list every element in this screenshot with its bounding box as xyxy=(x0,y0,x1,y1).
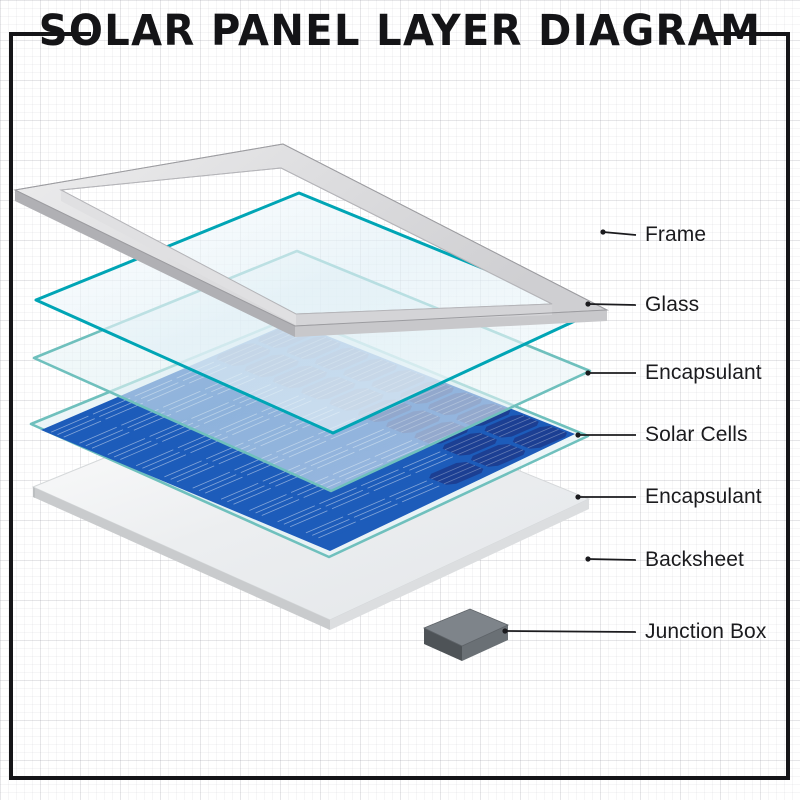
label-junction-box: Junction Box xyxy=(645,620,766,644)
label-solar-cells: Solar Cells xyxy=(645,423,748,447)
leader-line-junction-box xyxy=(505,631,636,632)
label-backsheet: Backsheet xyxy=(645,548,744,572)
leader-line-frame xyxy=(603,232,636,235)
junction-box xyxy=(424,609,508,661)
leader-line-glass xyxy=(588,304,636,305)
page-title: SOLAR PANEL LAYER DIAGRAM xyxy=(28,2,772,60)
label-glass: Glass xyxy=(645,293,699,317)
label-encapsulant2: Encapsulant xyxy=(645,485,762,509)
leader-line-backsheet xyxy=(588,559,636,560)
label-frame: Frame xyxy=(645,223,706,247)
label-encapsulant1: Encapsulant xyxy=(645,361,762,385)
solar-panel-exploded-diagram xyxy=(0,0,800,800)
